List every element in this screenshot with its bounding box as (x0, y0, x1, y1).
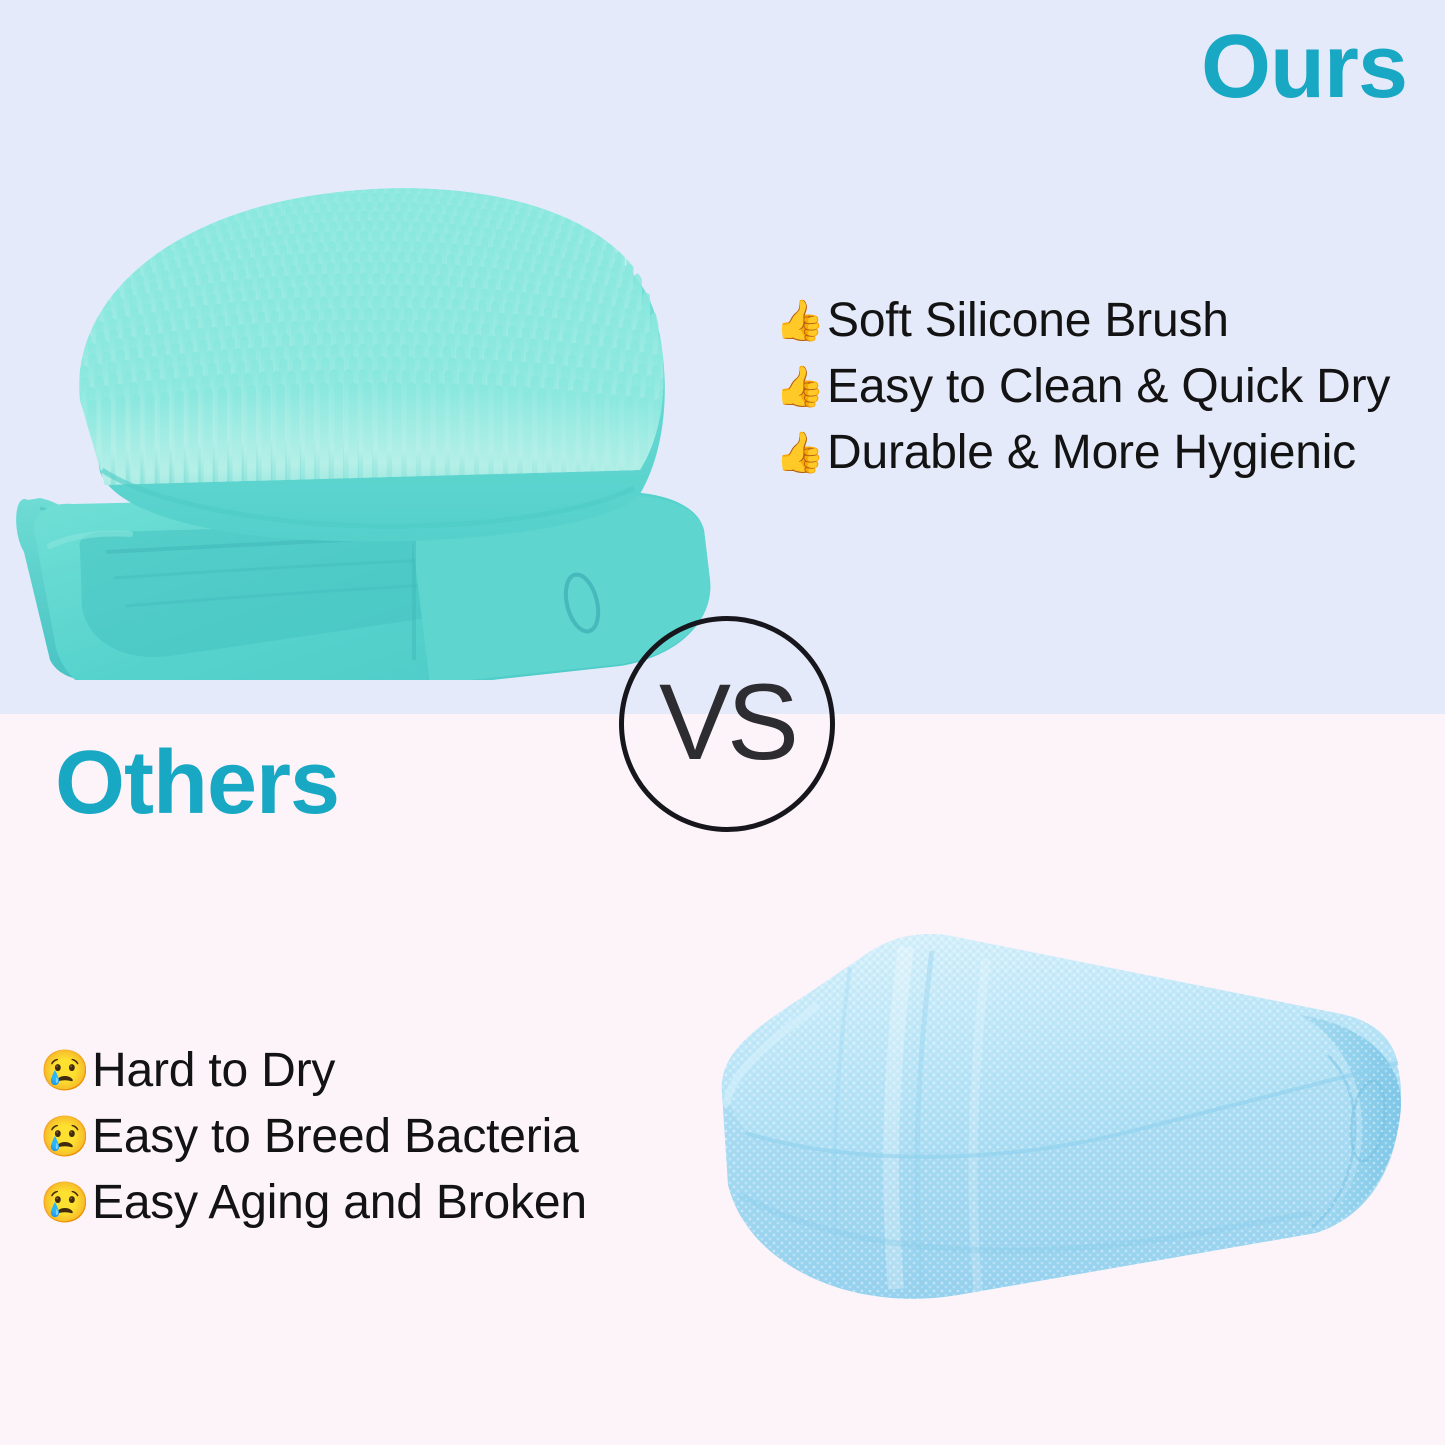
feature-item: 👍 Durable & More Hygienic (775, 420, 1390, 486)
feature-label: Easy to Clean & Quick Dry (827, 363, 1390, 411)
folded-blue-towel-image (700, 865, 1420, 1335)
crying-face-icon: 😢 (40, 1117, 92, 1157)
feature-item: 👍 Soft Silicone Brush (775, 288, 1390, 354)
vs-badge: VS (619, 616, 835, 832)
thumbs-up-icon: 👍 (775, 433, 827, 473)
others-heading: Others (55, 738, 339, 828)
ours-heading: Ours (1201, 22, 1407, 112)
crying-face-icon: 😢 (40, 1183, 92, 1223)
comparison-poster: Ours (0, 0, 1445, 1445)
feature-label: Hard to Dry (92, 1047, 335, 1095)
ours-feature-list: 👍 Soft Silicone Brush 👍 Easy to Clean & … (775, 288, 1390, 486)
feature-label: Easy to Breed Bacteria (92, 1113, 579, 1161)
feature-item: 👍 Easy to Clean & Quick Dry (775, 354, 1390, 420)
thumbs-up-icon: 👍 (775, 301, 827, 341)
thumbs-up-icon: 👍 (775, 367, 827, 407)
feature-label: Soft Silicone Brush (827, 297, 1229, 345)
feature-item: 😢 Hard to Dry (40, 1038, 587, 1104)
others-feature-list: 😢 Hard to Dry 😢 Easy to Breed Bacteria 😢… (40, 1038, 587, 1236)
silicone-bath-brush-image (10, 100, 730, 680)
feature-item: 😢 Easy to Breed Bacteria (40, 1104, 587, 1170)
feature-label: Durable & More Hygienic (827, 429, 1356, 477)
crying-face-icon: 😢 (40, 1051, 92, 1091)
feature-item: 😢 Easy Aging and Broken (40, 1170, 587, 1236)
vs-label: VS (619, 616, 835, 832)
feature-label: Easy Aging and Broken (92, 1179, 587, 1227)
